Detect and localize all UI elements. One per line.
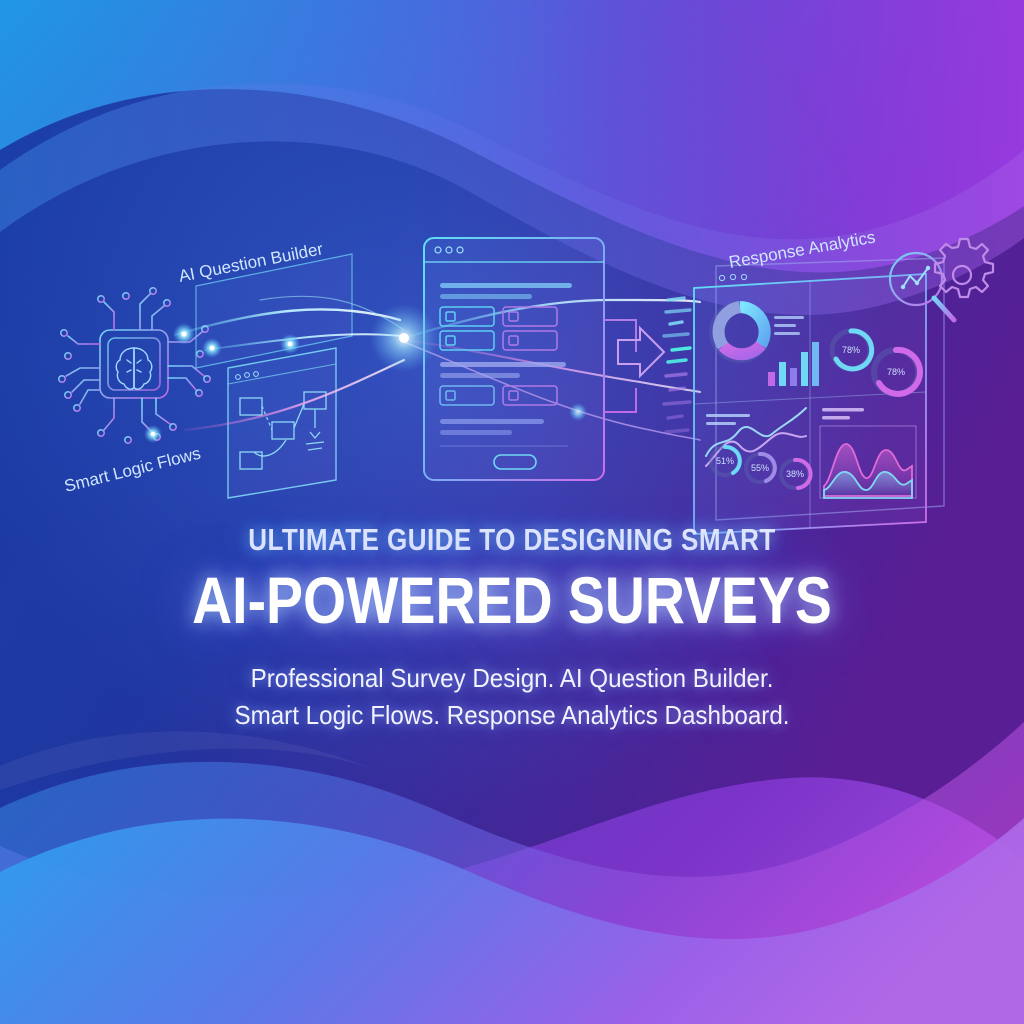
response-analytics-label: Response Analytics: [727, 227, 876, 271]
response-analytics-dashboard: 78% 78% 51%: [694, 258, 944, 534]
poster-copy: ULTIMATE GUIDE TO DESIGNING SMART AI-POW…: [0, 524, 1024, 734]
arrow-right-icon: [604, 320, 664, 412]
page-title: AI-POWERED SURVEYS: [82, 567, 942, 634]
gauge-top-right-value: 78%: [887, 367, 905, 377]
eyebrow-text: ULTIMATE GUIDE TO DESIGNING SMART: [82, 524, 942, 557]
survey-form-icon: [424, 238, 604, 480]
data-bars-decoration: [664, 298, 690, 432]
gauge-top-left-value: 78%: [842, 345, 860, 355]
gauge-bottom-2-value: 55%: [751, 463, 769, 473]
smart-logic-flows-label: Smart Logic Flows: [62, 444, 202, 496]
brain-chip-icon: [59, 288, 210, 443]
poster-canvas: AI Question Builder Smart Logic Flows: [0, 0, 1024, 1024]
subtitle-line-1: Professional Survey Design. AI Question …: [36, 660, 988, 697]
gauge-bottom-1-value: 51%: [716, 456, 734, 466]
subtitle-line-2: Smart Logic Flows. Response Analytics Da…: [36, 697, 988, 734]
hero-illustration: AI Question Builder Smart Logic Flows: [0, 0, 1024, 1024]
flow-diagram-icon: [228, 348, 336, 498]
gauge-bottom-3-value: 38%: [786, 469, 804, 479]
subtitle-block: Professional Survey Design. AI Question …: [0, 660, 1024, 734]
